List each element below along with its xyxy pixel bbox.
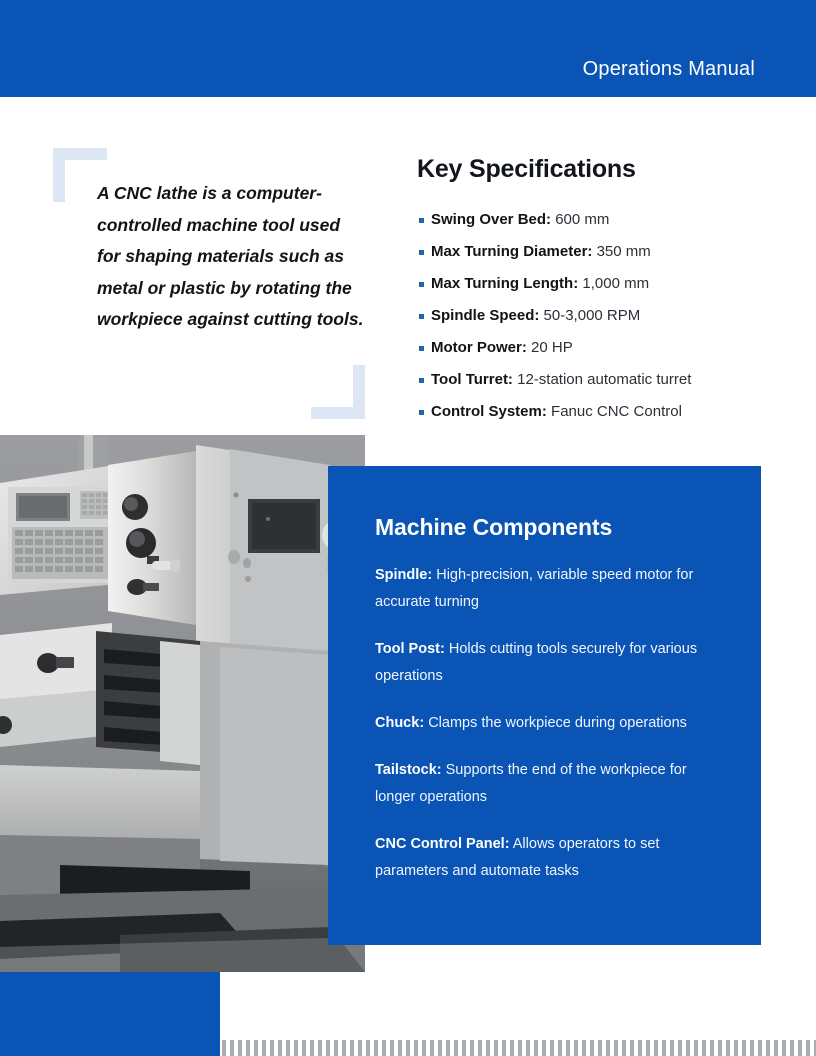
machine-component-label: Spindle:: [375, 567, 432, 583]
specification-item: Motor Power: 20 HP: [417, 339, 777, 357]
machine-component-item: CNC Control Panel: Allows operators to s…: [375, 831, 723, 885]
machine-component-label: Tailstock:: [375, 762, 442, 778]
machine-component-value: Clamps the workpiece during operations: [428, 715, 687, 731]
specification-value: 12-station automatic turret: [517, 371, 691, 388]
page-header: Operations Manual: [0, 0, 816, 97]
specification-value: Fanuc CNC Control: [551, 403, 682, 420]
machine-components-card: Machine Components Spindle: High-precisi…: [328, 466, 761, 945]
specification-value: 600 mm: [555, 211, 609, 228]
specification-label: Spindle Speed:: [431, 307, 539, 324]
specification-item: Max Turning Length: 1,000 mm: [417, 275, 777, 293]
specification-item: Max Turning Diameter: 350 mm: [417, 243, 777, 261]
specification-item: Control System: Fanuc CNC Control: [417, 403, 777, 421]
bullet-square-icon: [419, 346, 424, 351]
specification-value: 1,000 mm: [582, 275, 649, 292]
intro-quote-text: A CNC lathe is a computer-controlled mac…: [97, 178, 365, 336]
footer-stripe-pattern: [222, 1040, 816, 1056]
specification-value: 20 HP: [531, 339, 573, 356]
bullet-square-icon: [419, 378, 424, 383]
machine-component-label: CNC Control Panel:: [375, 836, 510, 852]
specification-label: Tool Turret:: [431, 371, 513, 388]
machine-component-label: Chuck:: [375, 715, 424, 731]
bullet-square-icon: [419, 250, 424, 255]
header-title: Operations Manual: [583, 58, 755, 81]
specification-item: Tool Turret: 12-station automatic turret: [417, 371, 777, 389]
specification-value: 350 mm: [597, 243, 651, 260]
machine-components-title: Machine Components: [375, 514, 612, 541]
document-page: Operations Manual A CNC lathe is a compu…: [0, 0, 816, 1056]
machine-component-item: Tool Post: Holds cutting tools securely …: [375, 636, 723, 690]
bullet-square-icon: [419, 218, 424, 223]
specification-item: Swing Over Bed: 600 mm: [417, 211, 777, 229]
bullet-square-icon: [419, 314, 424, 319]
machine-component-item: Spindle: High-precision, variable speed …: [375, 562, 723, 616]
cnc-lathe-machine-photo: [0, 435, 365, 972]
footer-blue-block: [0, 972, 220, 1056]
specification-label: Max Turning Diameter:: [431, 243, 592, 260]
machine-components-list: Spindle: High-precision, variable speed …: [375, 562, 723, 905]
bullet-square-icon: [419, 282, 424, 287]
corner-bracket-bottom-right-icon: [311, 365, 365, 419]
specification-item: Spindle Speed: 50-3,000 RPM: [417, 307, 777, 325]
specification-value: 50-3,000 RPM: [544, 307, 641, 324]
machine-component-item: Chuck: Clamps the workpiece during opera…: [375, 710, 723, 737]
specification-label: Motor Power:: [431, 339, 527, 356]
specification-label: Max Turning Length:: [431, 275, 578, 292]
specification-label: Swing Over Bed:: [431, 211, 551, 228]
key-specifications-title: Key Specifications: [417, 155, 777, 184]
specifications-list: Swing Over Bed: 600 mmMax Turning Diamet…: [417, 211, 777, 421]
bullet-square-icon: [419, 410, 424, 415]
machine-component-label: Tool Post:: [375, 641, 445, 657]
specification-label: Control System:: [431, 403, 547, 420]
intro-quote-block: A CNC lathe is a computer-controlled mac…: [53, 148, 365, 416]
key-specifications-section: Key Specifications Swing Over Bed: 600 m…: [417, 155, 777, 435]
machine-component-item: Tailstock: Supports the end of the workp…: [375, 757, 723, 811]
